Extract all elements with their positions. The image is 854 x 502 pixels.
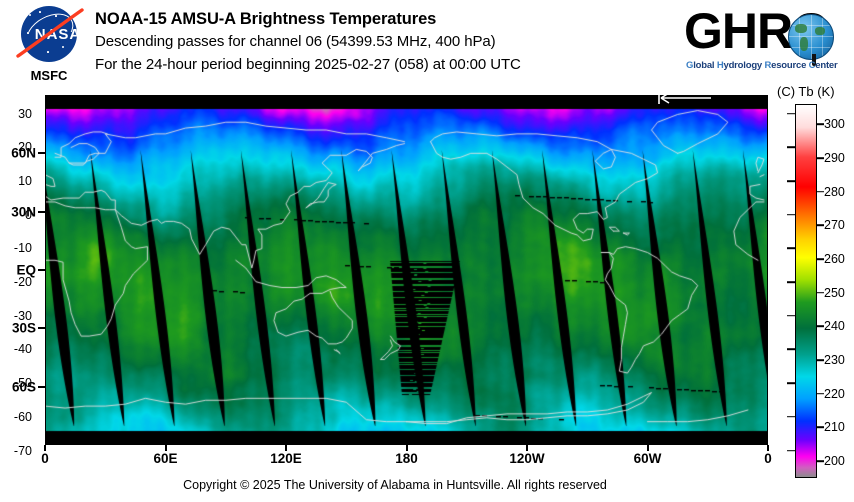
longitude-tick-mark — [406, 445, 408, 451]
longitude-tick-label: 120E — [270, 451, 302, 466]
colorbar-kelvin-tick — [816, 427, 824, 429]
colorbar-celsius-tick — [787, 248, 795, 250]
colorbar-kelvin-tick — [816, 359, 824, 361]
colorbar-kelvin-tick — [816, 258, 824, 260]
subtitle-channel: Descending passes for channel 06 (54399.… — [95, 30, 521, 53]
ghrc-globe-icon — [788, 14, 834, 60]
longitude-tick-mark — [767, 445, 769, 451]
longitude-tick-mark — [165, 445, 167, 451]
latitude-tick-mark — [38, 386, 45, 388]
colorbar-kelvin-tick — [816, 460, 824, 462]
colorbar — [795, 104, 817, 478]
colorbar-celsius-tick — [787, 146, 795, 148]
colorbar-kelvin-label: 230 — [824, 353, 845, 367]
nasa-msfc-logo: NASA MSFC — [12, 6, 86, 88]
longitude-tick-label: 0 — [41, 451, 49, 466]
longitude-tick-label: 120W — [509, 451, 544, 466]
brightness-temperature-map[interactable] — [45, 95, 768, 445]
longitude-tick-mark — [44, 445, 46, 451]
colorbar-kelvin-label: 290 — [824, 151, 845, 165]
colorbar-kelvin-tick — [816, 191, 824, 193]
colorbar-kelvin-tick — [816, 123, 824, 125]
colorbar-kelvin-tick — [816, 326, 824, 328]
colorbar-celsius-tick — [787, 180, 795, 182]
colorbar-kelvin-label: 280 — [824, 185, 845, 199]
latitude-tick-mark — [38, 327, 45, 329]
colorbar-celsius-label: -30 — [14, 309, 32, 323]
colorbar-kelvin-label: 200 — [824, 454, 845, 468]
ghrc-logo: GHRC Global Hydrology Resource Center — [684, 6, 842, 78]
latitude-tick-mark — [38, 211, 45, 213]
latitude-tick-mark — [38, 152, 45, 154]
colorbar-kelvin-label: 300 — [824, 117, 845, 131]
colorbar-kelvin-label: 240 — [824, 319, 845, 333]
longitude-tick-label: 60E — [153, 451, 177, 466]
colorbar-celsius-label: -10 — [14, 241, 32, 255]
colorbar-celsius-label: 20 — [18, 140, 32, 154]
longitude-tick-mark — [285, 445, 287, 451]
colorbar-celsius-label: 0 — [25, 208, 32, 222]
latitude-tick-label: 30S — [12, 321, 36, 336]
colorbar-celsius-tick — [787, 349, 795, 351]
colorbar-celsius-tick — [787, 214, 795, 216]
colorbar-kelvin-label: 270 — [824, 218, 845, 232]
colorbar-kelvin-tick — [816, 157, 824, 159]
ghrc-tagline: Global Hydrology Resource Center — [686, 60, 842, 71]
colorbar-kelvin-tick — [816, 225, 824, 227]
latitude-tick-label: 30N — [11, 204, 36, 219]
longitude-tick-mark — [647, 445, 649, 451]
longitude-tick-mark — [526, 445, 528, 451]
colorbar-celsius-tick — [787, 382, 795, 384]
nasa-swoosh-icon — [14, 8, 84, 60]
descending-pass-arrow-icon — [655, 90, 713, 104]
colorbar-kelvin-label: 260 — [824, 252, 845, 266]
latitude-tick-mark — [38, 269, 45, 271]
colorbar-celsius-tick — [787, 281, 795, 283]
longitude-tick-label: 180 — [395, 451, 418, 466]
colorbar-celsius-label: -70 — [14, 444, 32, 458]
colorbar-kelvin-label: 220 — [824, 387, 845, 401]
colorbar-celsius-label: 30 — [18, 107, 32, 121]
colorbar-celsius-tick — [787, 113, 795, 115]
page-title: NOAA-15 AMSU-A Brightness Temperatures — [95, 8, 521, 30]
colorbar-celsius-label: -50 — [14, 376, 32, 390]
map-canvas[interactable] — [45, 95, 768, 445]
nasa-center-label: MSFC — [12, 68, 86, 83]
copyright-notice: Copyright © 2025 The University of Alaba… — [0, 478, 790, 492]
colorbar-celsius-tick — [787, 315, 795, 317]
longitude-tick-label: 0 — [764, 451, 772, 466]
colorbar-kelvin-label: 210 — [824, 420, 845, 434]
colorbar-celsius-label: 10 — [18, 174, 32, 188]
colorbar-celsius-label: -60 — [14, 410, 32, 424]
longitude-tick-label: 60W — [634, 451, 662, 466]
colorbar-celsius-tick — [787, 416, 795, 418]
colorbar-kelvin-tick — [816, 393, 824, 395]
colorbar-celsius-label: -20 — [14, 275, 32, 289]
colorbar-header: (C) Tb (K) — [777, 84, 835, 99]
colorbar-kelvin-label: 250 — [824, 286, 845, 300]
subtitle-period: For the 24-hour period beginning 2025-02… — [95, 53, 521, 76]
colorbar-gradient — [796, 105, 816, 477]
colorbar-celsius-label: -40 — [14, 342, 32, 356]
colorbar-celsius-tick — [787, 450, 795, 452]
title-block: NOAA-15 AMSU-A Brightness Temperatures D… — [95, 8, 521, 76]
colorbar-kelvin-tick — [816, 292, 824, 294]
